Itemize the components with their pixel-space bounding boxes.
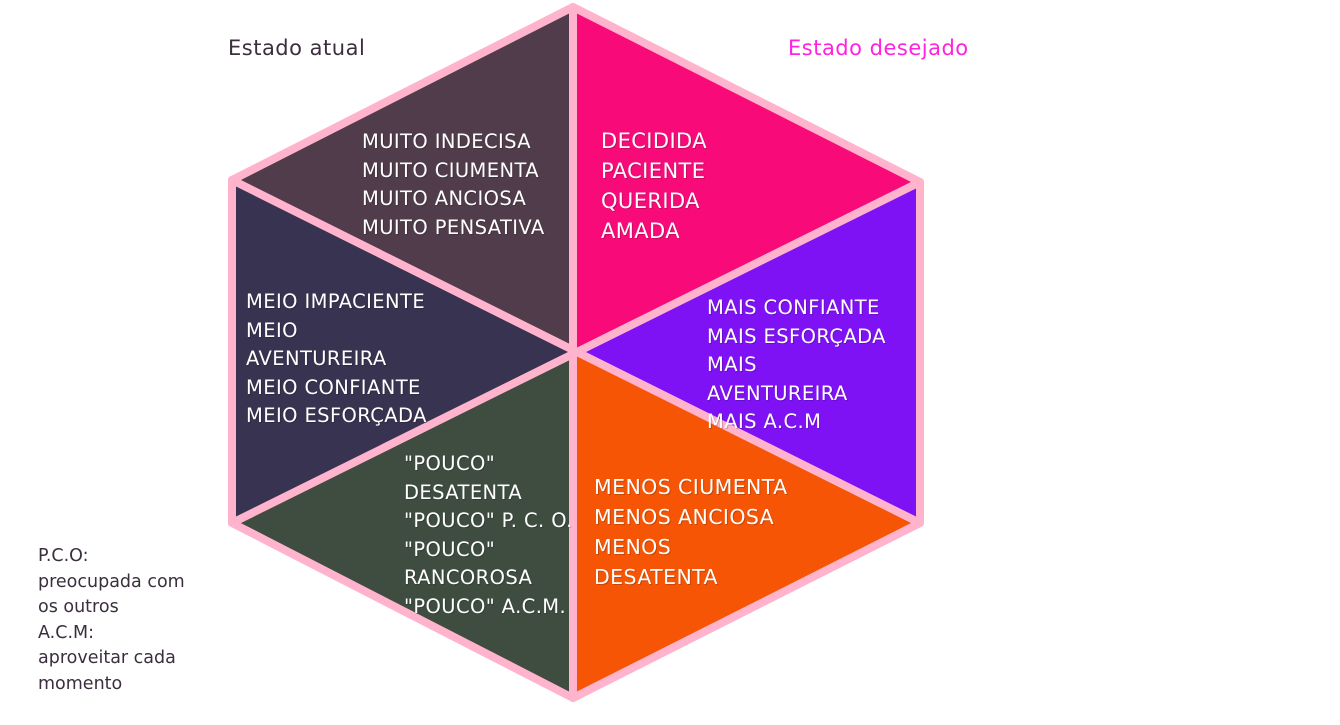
diagram-canvas: Estado atual Estado desejado MUITO INDEC… (0, 0, 1340, 725)
abbreviation-legend: P.C.O: preocupada com os outros A.C.M: a… (38, 544, 185, 697)
hexagon-diagram (0, 0, 1340, 725)
